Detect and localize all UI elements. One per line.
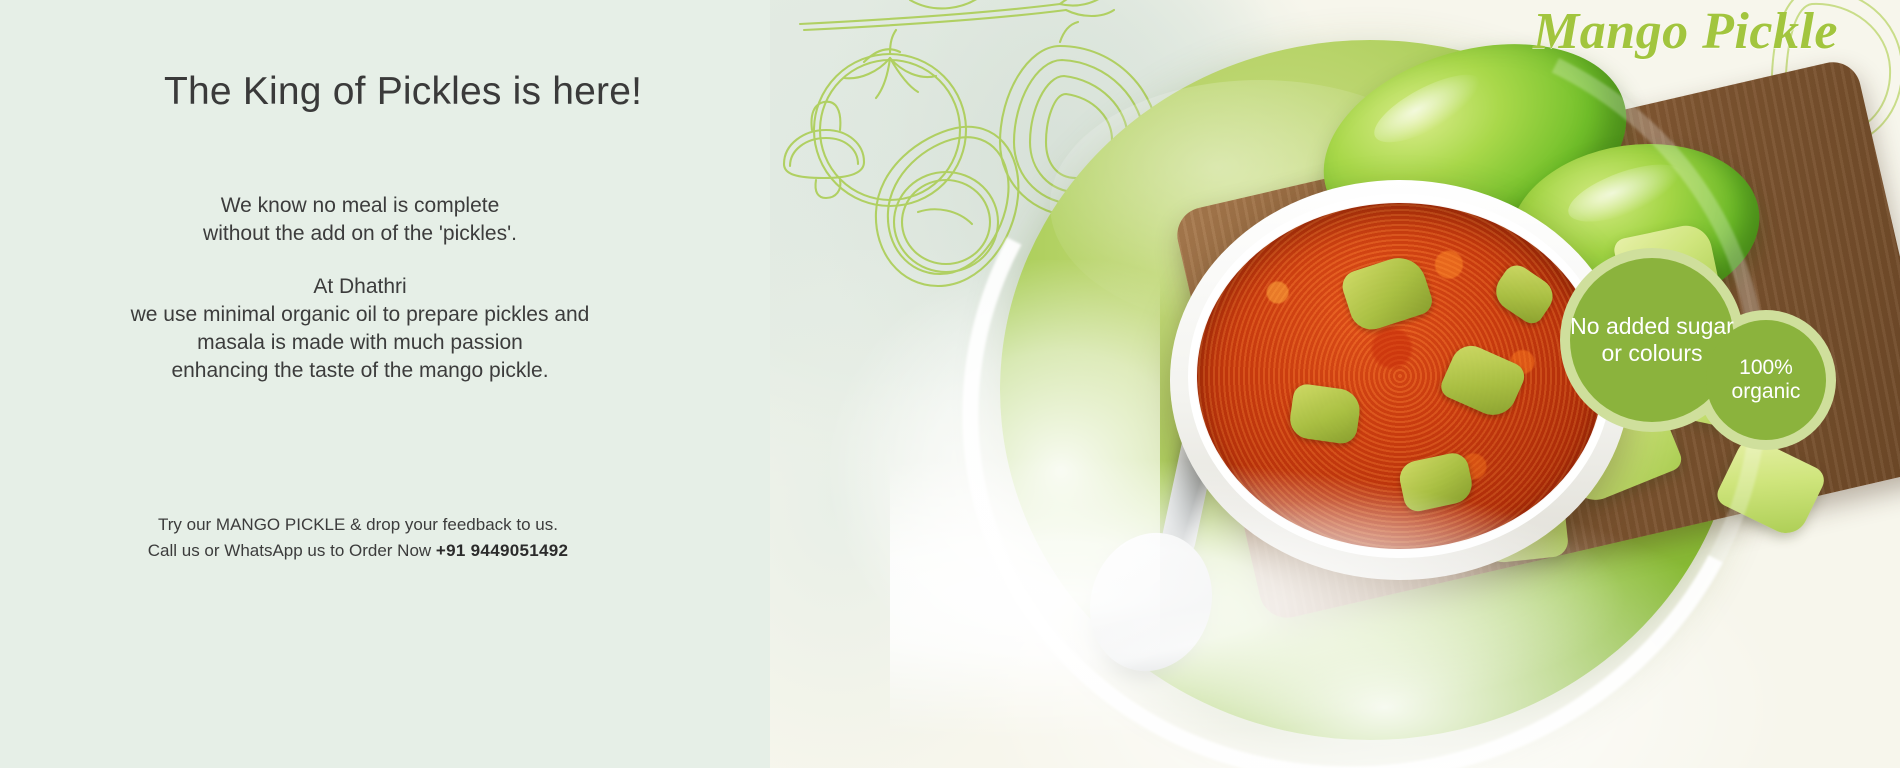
call-to-action: Try our MANGO PICKLE & drop your feedbac… bbox=[0, 512, 716, 563]
body-line: we use minimal organic oil to prepare pi… bbox=[0, 301, 720, 329]
product-title: Mango Pickle bbox=[1533, 2, 1838, 61]
headline: The King of Pickles is here! bbox=[164, 70, 642, 114]
body-copy: We know no meal is complete without the … bbox=[0, 192, 720, 384]
paragraph-spacer bbox=[0, 247, 720, 273]
white-brush-stroke-left bbox=[830, 260, 1160, 680]
badge-organic: 100% organic bbox=[1706, 320, 1826, 440]
cta-order-prefix: Call us or WhatsApp us to Order Now bbox=[148, 541, 436, 560]
body-line: We know no meal is complete bbox=[0, 192, 720, 220]
promotional-banner: No added sugar or colours 100% organic M… bbox=[0, 0, 1900, 768]
artwork-panel: No added sugar or colours 100% organic M… bbox=[770, 0, 1900, 768]
body-line: At Dhathri bbox=[0, 273, 720, 301]
body-line: enhancing the taste of the mango pickle. bbox=[0, 357, 720, 385]
feature-badges: No added sugar or colours 100% organic bbox=[1560, 248, 1850, 448]
body-line: without the add on of the 'pickles'. bbox=[0, 220, 720, 248]
cta-order-line: Call us or WhatsApp us to Order Now +91 … bbox=[0, 538, 716, 564]
phone-number[interactable]: +91 9449051492 bbox=[436, 541, 568, 560]
body-line: masala is made with much passion bbox=[0, 329, 720, 357]
badge-organic-label: 100% organic bbox=[1706, 356, 1826, 405]
cta-feedback-line: Try our MANGO PICKLE & drop your feedbac… bbox=[0, 512, 716, 538]
copy-column: The King of Pickles is here! We know no … bbox=[0, 0, 780, 768]
mushroom-line-art bbox=[784, 102, 864, 198]
